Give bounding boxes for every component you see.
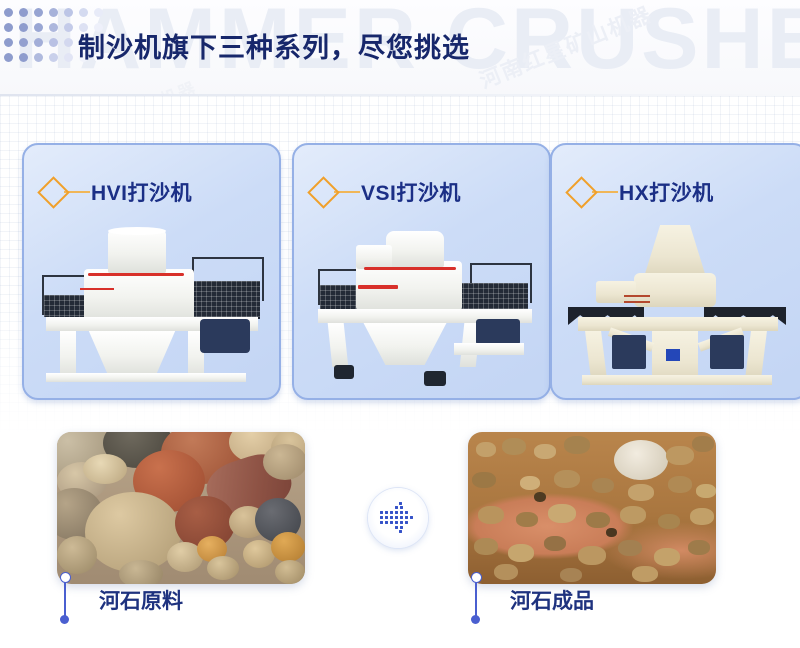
river-pebbles-photo	[57, 432, 305, 584]
page-title: 制沙机旗下三种系列，尽您挑选	[78, 26, 470, 65]
diamond-icon	[565, 176, 598, 209]
caption-text: 河石成品	[510, 585, 594, 615]
diamond-icon	[37, 176, 70, 209]
card-label-hx: HX打沙机	[570, 177, 714, 207]
machine-illustration-hvi	[24, 223, 279, 398]
product-card-row: HVI打沙机	[0, 143, 800, 398]
product-name: VSI打沙机	[361, 177, 461, 207]
caption-text: 河石原料	[99, 585, 183, 615]
caption-connector	[471, 578, 480, 622]
header: HAMMER CRUSHER 河南红星矿山机器 红星机器 制沙机旗下三种系列，尽…	[0, 0, 800, 96]
machine-illustration-hx	[552, 223, 800, 398]
dot-grid-row	[4, 8, 109, 23]
sand-maker-product-banner: HAMMER CRUSHER 河南红星矿山机器 红星机器 制沙机旗下三种系列，尽…	[0, 0, 800, 648]
caption-input-material: 河石原料	[60, 578, 183, 622]
diamond-icon	[307, 176, 340, 209]
product-name: HVI打沙机	[91, 177, 192, 207]
caption-connector	[60, 578, 69, 622]
card-label-hvi: HVI打沙机	[42, 177, 192, 207]
machine-illustration-vsi	[294, 223, 549, 398]
crushed-sand-photo	[468, 432, 716, 584]
product-card-hx[interactable]: HX打沙机	[550, 143, 800, 400]
card-label-vsi: VSI打沙机	[312, 177, 461, 207]
header-divider	[0, 94, 800, 96]
process-arrow-badge	[368, 488, 428, 548]
product-card-vsi[interactable]: VSI打沙机	[292, 143, 551, 400]
pixel-arrow-right-icon	[380, 505, 416, 531]
product-card-hvi[interactable]: HVI打沙机	[22, 143, 281, 400]
caption-output-material: 河石成品	[471, 578, 594, 622]
product-name: HX打沙机	[619, 177, 714, 207]
